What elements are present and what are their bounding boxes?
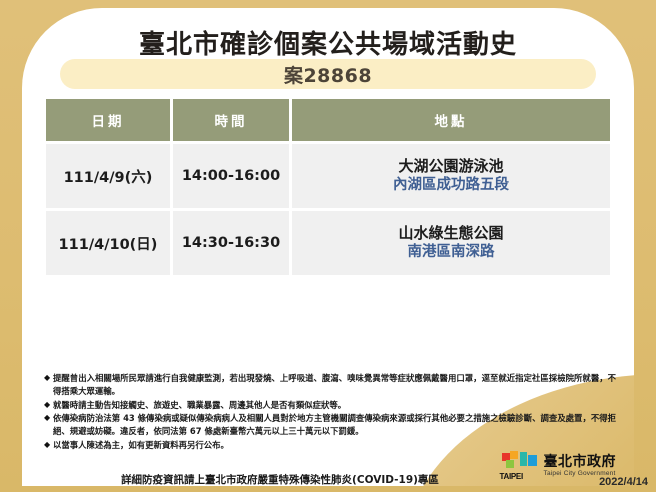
row-time-value: 14:00-16:00 — [182, 168, 280, 184]
white-card: 臺北市確診個案公共場域活動史 案28868 日期 時間 地點 111/4/9(六… — [22, 8, 634, 486]
logo-name-chinese: 臺北市政府 — [544, 455, 617, 470]
cell-date: 111/4/9(六) — [46, 144, 170, 208]
note-item: ◆ 就醫時請主動告知接觸史、旅遊史、職業暴露、周邊其他人是否有類似症狀等。 — [44, 399, 616, 412]
row-date-value: 111/4/10(日) — [59, 233, 158, 254]
note-item: ◆ 提醒曾出入相關場所民眾請進行自我健康監測，若出現發燒、上呼吸道、腹瀉、嗅味覺… — [44, 372, 616, 398]
note-text: 以當事人陳述為主，如有更新資料再另行公布。 — [53, 439, 616, 452]
note-item: ◆ 依傳染病防治法第 43 條傳染病或疑似傳染病病人及相關人員對於地方主管機關調… — [44, 412, 616, 438]
taipei-wordmark: TAIPEI — [500, 472, 523, 481]
activity-table: 日期 時間 地點 111/4/9(六) 14:00-16:00 大湖公園游泳池 … — [46, 99, 610, 278]
cell-time: 14:00-16:00 — [173, 144, 289, 208]
cell-time: 14:30-16:30 — [173, 211, 289, 275]
date-stamp: 2022/4/14 — [599, 476, 648, 488]
taipei-logo-icon: TAIPEI — [500, 451, 540, 481]
poster-root: 臺北市確診個案公共場域活動史 案28868 日期 時間 地點 111/4/9(六… — [0, 0, 656, 492]
note-text: 就醫時請主動告知接觸史、旅遊史、職業暴露、周邊其他人是否有類似症狀等。 — [53, 399, 616, 412]
notes-list: ◆ 提醒曾出入相關場所民眾請進行自我健康監測，若出現發燒、上呼吸道、腹瀉、嗅味覺… — [44, 372, 616, 453]
case-number-label: 案28868 — [284, 61, 372, 88]
note-text: 依傳染病防治法第 43 條傳染病或疑似傳染病病人及相關人員對於地方主管機關調查傳… — [53, 412, 616, 438]
bullet-icon: ◆ — [44, 439, 53, 452]
bullet-icon: ◆ — [44, 412, 53, 425]
row-place-name: 山水綠生態公園 — [398, 223, 503, 243]
cell-place: 大湖公園游泳池 內湖區成功路五段 — [292, 144, 610, 208]
table-header-row: 日期 時間 地點 — [46, 99, 610, 141]
logo-text-block: 臺北市政府 Taipei City Government — [544, 455, 617, 477]
bullet-icon: ◆ — [44, 372, 53, 385]
row-date-value: 111/4/9(六) — [64, 166, 153, 187]
column-header-place: 地點 — [292, 99, 610, 141]
note-item: ◆ 以當事人陳述為主，如有更新資料再另行公布。 — [44, 439, 616, 452]
cell-date: 111/4/10(日) — [46, 211, 170, 275]
row-time-value: 14:30-16:30 — [182, 235, 280, 251]
table-row: 111/4/10(日) 14:30-16:30 山水綠生態公園 南港區南深路 — [46, 211, 610, 275]
bullet-icon: ◆ — [44, 399, 53, 412]
table-row: 111/4/9(六) 14:00-16:00 大湖公園游泳池 內湖區成功路五段 — [46, 144, 610, 208]
case-number-banner: 案28868 — [60, 59, 596, 89]
row-place-address: 南港區南深路 — [408, 243, 495, 263]
cell-place: 山水綠生態公園 南港區南深路 — [292, 211, 610, 275]
column-header-time: 時間 — [173, 99, 289, 141]
row-place-address: 內湖區成功路五段 — [393, 176, 509, 196]
column-header-date: 日期 — [46, 99, 170, 141]
row-place-name: 大湖公園游泳池 — [398, 156, 503, 176]
note-text: 提醒曾出入相關場所民眾請進行自我健康監測，若出現發燒、上呼吸道、腹瀉、嗅味覺異常… — [53, 372, 616, 398]
page-title: 臺北市確診個案公共場域活動史 — [22, 24, 634, 61]
